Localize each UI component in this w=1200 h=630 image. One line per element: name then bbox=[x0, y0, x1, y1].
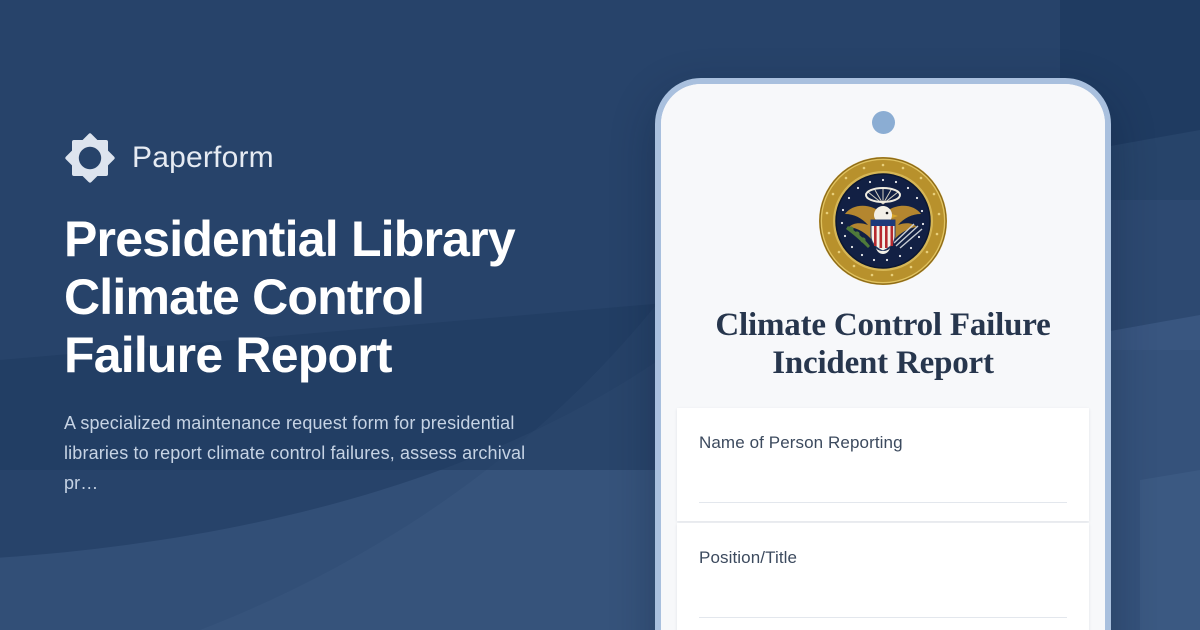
form-title: Climate Control Failure Incident Report bbox=[679, 306, 1087, 382]
page-title: Presidential Library Climate Control Fai… bbox=[64, 210, 544, 384]
phone-mockup: Climate Control Failure Incident Report … bbox=[655, 78, 1111, 630]
background-poly-right-bottom bbox=[1140, 470, 1200, 630]
phone-screen: Climate Control Failure Incident Report … bbox=[661, 84, 1105, 630]
form-fields: Name of Person Reporting Position/Title bbox=[661, 408, 1105, 630]
camera-dot-icon bbox=[872, 111, 895, 134]
field-label: Name of Person Reporting bbox=[699, 432, 1067, 454]
position-title-input[interactable] bbox=[699, 617, 1067, 618]
hero-content: Paperform Presidential Library Climate C… bbox=[64, 0, 584, 630]
page-description: A specialized maintenance request form f… bbox=[64, 408, 534, 498]
og-share-card: Paperform Presidential Library Climate C… bbox=[0, 0, 1200, 630]
paperform-logo-icon bbox=[64, 132, 116, 184]
brand-name: Paperform bbox=[132, 143, 274, 173]
form-field-position-title[interactable]: Position/Title bbox=[677, 523, 1089, 630]
form-field-name-of-person-reporting[interactable]: Name of Person Reporting bbox=[677, 408, 1089, 521]
name-of-person-reporting-input[interactable] bbox=[699, 502, 1067, 503]
presidential-seal-icon bbox=[818, 156, 948, 286]
brand-lockup: Paperform bbox=[64, 132, 584, 184]
field-label: Position/Title bbox=[699, 547, 1067, 569]
